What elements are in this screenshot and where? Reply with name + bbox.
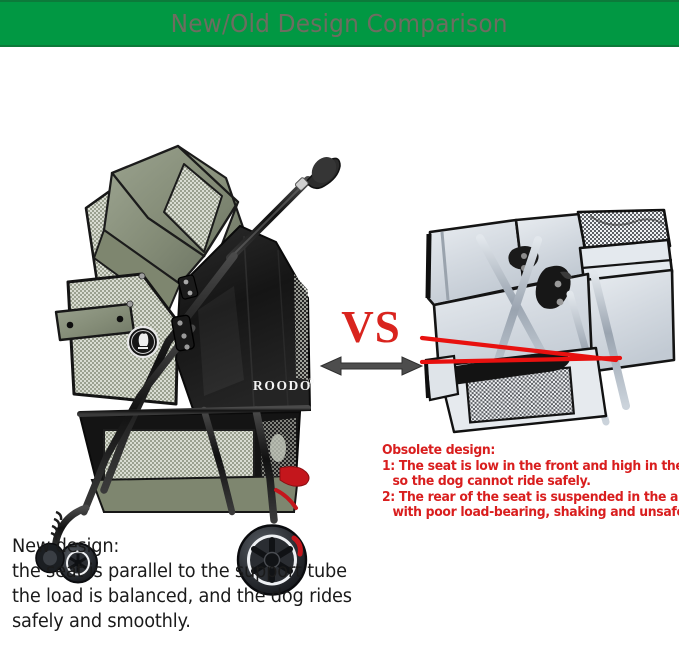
svg-text:ROODO: ROODO: [253, 378, 312, 393]
new-design-caption-line-2: the load is balanced, and the dog rides: [12, 584, 358, 609]
new-design-product-image: ROODO ®: [8, 60, 348, 530]
page-title: New/Old Design Comparison: [171, 9, 508, 38]
new-design-caption-line-1: the seat is parallel to the support tube: [12, 559, 358, 584]
obsolete-design-product-image: [420, 210, 676, 445]
vs-label: VS: [336, 303, 406, 351]
brand-logo: ROODO ®: [253, 377, 314, 393]
obsolete-caption-item-2-line-1: 2: The rear of the seat is suspended in …: [382, 490, 664, 506]
new-design-caption-line-3: safely and smoothly.: [12, 609, 358, 634]
obsolete-design-caption: Obsolete design: 1: The seat is low in t…: [382, 443, 664, 521]
svg-text:®: ®: [308, 377, 314, 386]
comparison-infographic: New/Old Design Comparison: [0, 0, 679, 659]
obsolete-caption-item-1-line-1: 1: The seat is low in the front and high…: [382, 459, 664, 475]
new-design-caption-heading: New design:: [12, 534, 358, 559]
double-headed-horizontal-arrow: [321, 356, 422, 376]
obsolete-caption-heading: Obsolete design:: [382, 443, 664, 459]
obsolete-caption-item-2-line-2: with poor load-bearing, shaking and unsa…: [382, 505, 664, 521]
obsolete-caption-item-1-line-2: so the dog cannot ride safely.: [382, 474, 664, 490]
header-banner: New/Old Design Comparison: [0, 0, 679, 47]
dog-emblem-badge: [128, 327, 158, 357]
new-design-caption: New design: the seat is parallel to the …: [12, 534, 358, 634]
